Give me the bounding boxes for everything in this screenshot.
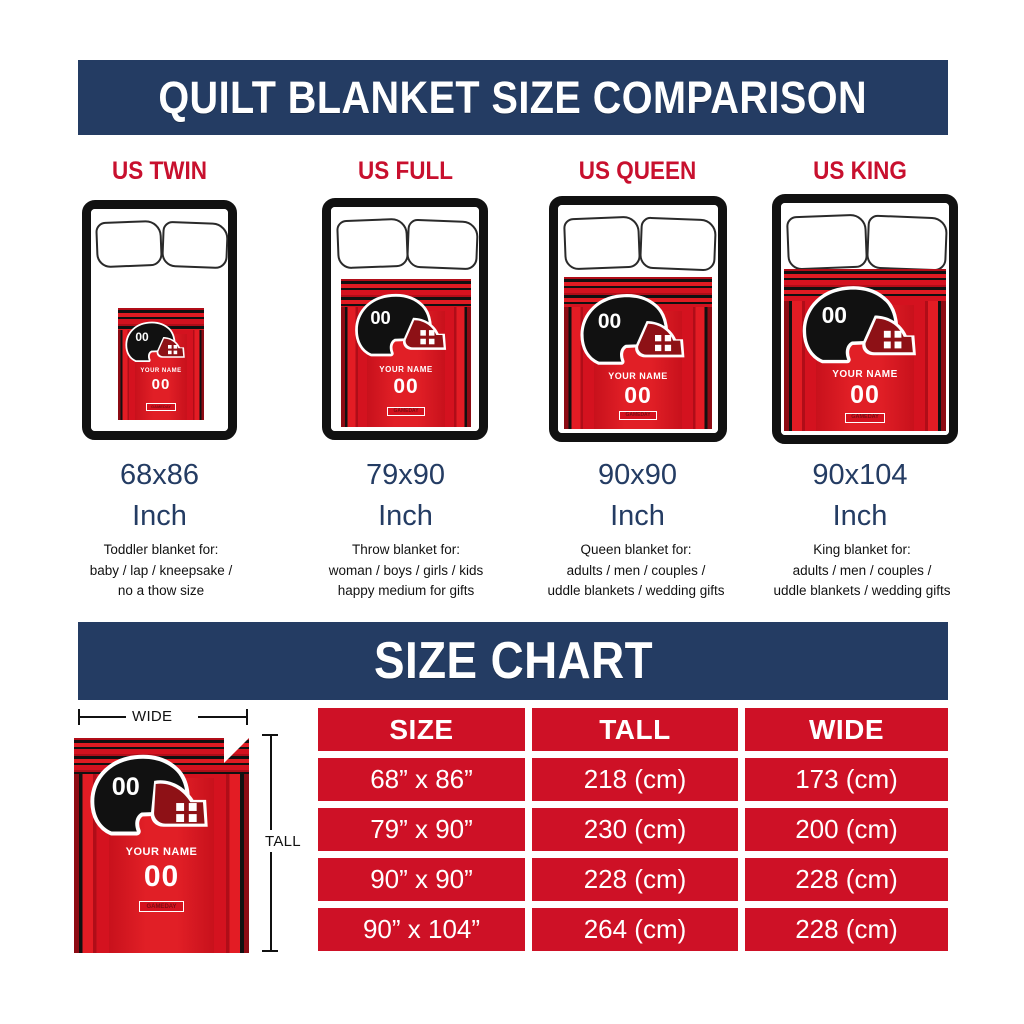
- pillow-left: [95, 220, 163, 268]
- blanket-folded-corner: [224, 738, 249, 763]
- description-line: adults / men / couples /: [758, 561, 966, 582]
- description-us-king: King blanket for: adults / men / couples…: [758, 540, 966, 602]
- svg-text:00: 00: [598, 310, 621, 333]
- bed-illustration-us-full: 00 YOUR NAME 00 GAMEDAY: [322, 198, 488, 440]
- bed-illustration-us-queen: 00 YOUR NAME 00 GAMEDAY: [549, 196, 727, 442]
- infographic-page: QUILT BLANKET SIZE COMPARISON US TWIN US…: [0, 0, 1024, 1024]
- pillow-right: [406, 219, 479, 271]
- table-header-wide: WIDE: [745, 708, 948, 751]
- dimension-us-twin: 68x86 Inch: [78, 455, 241, 537]
- bed-surface: 00 YOUR NAME 00 GAMEDAY: [331, 207, 479, 431]
- blanket-badge: GAMEDAY: [146, 403, 176, 411]
- tall-arrow-cap-top: [262, 734, 278, 736]
- cell-wide: 228 (cm): [745, 858, 948, 901]
- football-helmet-icon: 00: [800, 285, 922, 369]
- table-row: 90” x 90” 228 (cm) 228 (cm): [318, 858, 948, 901]
- description-line: happy medium for gifts: [308, 581, 504, 602]
- blanket-number-text: 00: [118, 376, 204, 393]
- description-line: King blanket for:: [758, 540, 966, 561]
- table-row: 68” x 86” 218 (cm) 173 (cm): [318, 758, 948, 801]
- description-line: adults / men / couples /: [532, 561, 740, 582]
- description-line: uddle blankets / wedding gifts: [758, 581, 966, 602]
- table-row: 90” x 104” 264 (cm) 228 (cm): [318, 908, 948, 951]
- size-chart-table: SIZE TALL WIDE 68” x 86” 218 (cm) 173 (c…: [318, 708, 948, 958]
- cell-size: 68” x 86”: [318, 758, 525, 801]
- dimension-us-queen: 90x90 Inch: [545, 455, 730, 537]
- svg-text:00: 00: [112, 773, 140, 801]
- description-line: woman / boys / girls / kids: [308, 561, 504, 582]
- pillow-left: [336, 218, 409, 270]
- football-helmet-icon: 00: [124, 321, 188, 365]
- dimension-us-full: 79x90 Inch: [318, 455, 493, 537]
- description-line: baby / lap / kneepsake /: [66, 561, 256, 582]
- pillow-right: [161, 221, 229, 269]
- dimension-unit: Inch: [545, 496, 730, 537]
- column-title-us-full: US FULL: [327, 155, 485, 187]
- bed-surface: 00 YOUR NAME 00 GAMEDAY: [91, 209, 228, 431]
- pillow-right: [866, 214, 948, 271]
- wide-arrow-cap-right: [246, 709, 248, 725]
- blanket-artwork: 00 YOUR NAME 00 GAMEDAY: [341, 279, 471, 427]
- blanket-artwork: 00 YOUR NAME 00 GAMEDAY: [784, 269, 946, 431]
- blanket-artwork-measured: 00 YOUR NAME 00 GAMEDAY: [74, 738, 249, 953]
- svg-text:00: 00: [370, 307, 390, 328]
- blanket-name-text: YOUR NAME: [564, 371, 712, 381]
- blanket-number-text: 00: [74, 860, 249, 894]
- description-us-twin: Toddler blanket for: baby / lap / kneeps…: [66, 540, 256, 602]
- wide-arrow-cap-left: [78, 709, 80, 725]
- blanket-badge: GAMEDAY: [845, 413, 885, 423]
- cell-tall: 228 (cm): [532, 858, 738, 901]
- wide-label: WIDE: [132, 708, 172, 725]
- blanket-number-text: 00: [341, 375, 471, 399]
- cell-size: 90” x 90”: [318, 858, 525, 901]
- svg-text:00: 00: [135, 330, 149, 344]
- column-title-us-queen: US QUEEN: [554, 155, 721, 187]
- cell-wide: 228 (cm): [745, 908, 948, 951]
- blanket-badge: GAMEDAY: [619, 411, 656, 420]
- blanket-name-text: YOUR NAME: [341, 365, 471, 374]
- dimension-value: 68x86: [78, 455, 241, 496]
- dimension-value: 90x104: [772, 455, 948, 496]
- blanket-name-text: YOUR NAME: [784, 369, 946, 380]
- dimension-value: 90x90: [545, 455, 730, 496]
- bed-illustration-us-twin: 00 YOUR NAME 00 GAMEDAY: [82, 200, 237, 440]
- cell-wide: 200 (cm): [745, 808, 948, 851]
- page-title: QUILT BLANKET SIZE COMPARISON: [159, 72, 868, 124]
- pillow-right: [639, 217, 717, 272]
- table-header-row: SIZE TALL WIDE: [318, 708, 948, 751]
- cell-size: 79” x 90”: [318, 808, 525, 851]
- table-header-size: SIZE: [318, 708, 525, 751]
- svg-text:00: 00: [822, 302, 847, 328]
- description-us-full: Throw blanket for: woman / boys / girls …: [308, 540, 504, 602]
- dimension-unit: Inch: [772, 496, 948, 537]
- blanket-artwork: 00 YOUR NAME 00 GAMEDAY: [118, 308, 204, 420]
- football-helmet-icon: 00: [353, 293, 451, 361]
- blanket-badge: GAMEDAY: [387, 407, 424, 416]
- blanket-name-text: YOUR NAME: [118, 368, 204, 374]
- pillow-left: [563, 216, 641, 271]
- pillow-left: [786, 213, 868, 270]
- bed-surface: 00 YOUR NAME 00 GAMEDAY: [558, 205, 718, 433]
- blanket-artwork: 00 YOUR NAME 00 GAMEDAY: [564, 277, 712, 429]
- bed-illustration-us-king: 00 YOUR NAME 00 GAMEDAY: [772, 194, 958, 444]
- header-banner: QUILT BLANKET SIZE COMPARISON: [78, 60, 948, 135]
- blanket-name-text: YOUR NAME: [74, 846, 249, 858]
- blanket-number-text: 00: [564, 382, 712, 409]
- column-title-us-king: US KING: [781, 155, 939, 187]
- table-row: 79” x 90” 230 (cm) 200 (cm): [318, 808, 948, 851]
- football-helmet-icon: 00: [88, 754, 214, 841]
- measurement-diagram: WIDE TALL: [62, 702, 314, 960]
- description-line: Throw blanket for:: [308, 540, 504, 561]
- description-line: uddle blankets / wedding gifts: [532, 581, 740, 602]
- cell-tall: 230 (cm): [532, 808, 738, 851]
- tall-arrow-cap-bottom: [262, 950, 278, 952]
- cell-tall: 218 (cm): [532, 758, 738, 801]
- tall-label: TALL: [265, 833, 301, 850]
- size-chart-banner: SIZE CHART: [78, 622, 948, 700]
- cell-size: 90” x 104”: [318, 908, 525, 951]
- dimension-us-king: 90x104 Inch: [772, 455, 948, 537]
- bed-surface: 00 YOUR NAME 00 GAMEDAY: [781, 203, 949, 435]
- cell-wide: 173 (cm): [745, 758, 948, 801]
- dimension-unit: Inch: [318, 496, 493, 537]
- dimension-unit: Inch: [78, 496, 241, 537]
- description-us-queen: Queen blanket for: adults / men / couple…: [532, 540, 740, 602]
- table-header-tall: TALL: [532, 708, 738, 751]
- description-line: no a thow size: [66, 581, 256, 602]
- football-helmet-icon: 00: [578, 293, 690, 370]
- size-chart-title: SIZE CHART: [374, 631, 653, 691]
- blanket-badge: GAMEDAY: [139, 901, 183, 912]
- column-title-us-twin: US TWIN: [86, 155, 233, 187]
- cell-tall: 264 (cm): [532, 908, 738, 951]
- dimension-value: 79x90: [318, 455, 493, 496]
- blanket-number-text: 00: [784, 381, 946, 410]
- description-line: Queen blanket for:: [532, 540, 740, 561]
- description-line: Toddler blanket for:: [66, 540, 256, 561]
